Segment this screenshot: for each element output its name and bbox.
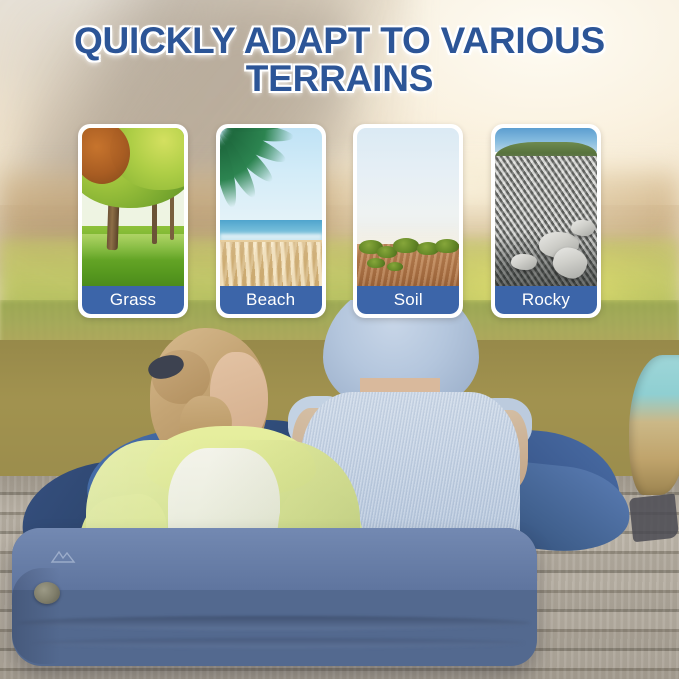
soil-shrub — [435, 239, 459, 253]
terrain-label-rocky: Rocky — [495, 286, 597, 314]
terrain-card-list: Grass — [78, 124, 601, 318]
terrain-card-inner: Rocky — [495, 128, 597, 314]
terrain-label-beach: Beach — [220, 286, 322, 314]
terrain-card-inner: Grass — [82, 128, 184, 314]
air-mattress-top-surface — [12, 528, 537, 590]
terrain-card-grass[interactable]: Grass — [78, 124, 188, 318]
terrain-card-inner: Beach — [220, 128, 322, 314]
lifestyle-photo — [0, 300, 679, 679]
beach-palm-tree — [220, 128, 302, 202]
air-mattress-seam — [18, 616, 530, 630]
rocky-boulder — [571, 220, 595, 236]
beach-sand-ripples — [220, 242, 322, 288]
terrain-card-inner: Soil — [357, 128, 459, 314]
terrain-photo-beach — [220, 128, 322, 288]
terrain-label-grass: Grass — [82, 286, 184, 314]
terrain-photo-grass — [82, 128, 184, 288]
terrain-card-soil[interactable]: Soil — [353, 124, 463, 318]
boat-fitting — [629, 494, 679, 543]
terrain-photo-rocky — [495, 128, 597, 288]
air-mattress-seam-lower — [32, 638, 524, 648]
terrain-card-rocky[interactable]: Rocky — [491, 124, 601, 318]
terrain-label-soil: Soil — [357, 286, 459, 314]
soil-shrub — [387, 262, 403, 271]
air-mattress — [12, 528, 537, 666]
soil-shrub — [367, 258, 385, 268]
rocky-boulder — [511, 254, 537, 270]
terrain-photo-soil — [357, 128, 459, 288]
air-mattress-valve — [34, 582, 60, 604]
page-title: QUICKLY ADAPT TO VARIOUS TERRAINS — [0, 22, 679, 98]
terrain-card-beach[interactable]: Beach — [216, 124, 326, 318]
soil-shrub — [393, 238, 419, 253]
grass-lawn-highlight — [82, 234, 184, 260]
brand-logo-icon — [50, 550, 76, 564]
product-poster: QUICKLY ADAPT TO VARIOUS TERRAINS Grass — [0, 0, 679, 679]
